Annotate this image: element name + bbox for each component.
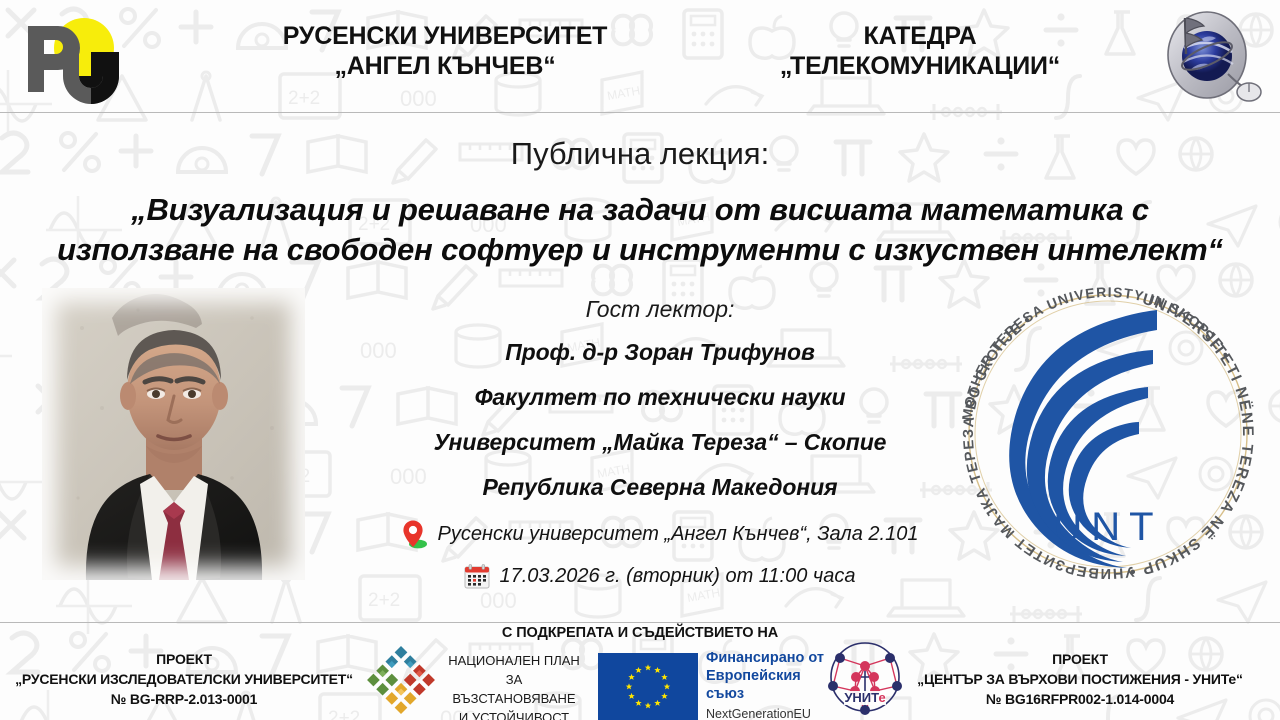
venue-row: Русенски университет „Ангел Кънчев“, Зал… bbox=[330, 519, 990, 549]
eu-funding-line1: Финансирано от bbox=[706, 650, 832, 668]
national-plan-line2: ЗА ВЪЗСТАНОВЯВАНЕ bbox=[444, 671, 584, 709]
national-plan-text: НАЦИОНАЛЕН ПЛАН ЗА ВЪЗСТАНОВЯВАНЕ И УСТО… bbox=[444, 652, 584, 720]
speaker-country: Република Северна Македония bbox=[330, 474, 990, 501]
speaker-faculty: Факултет по технически науки bbox=[330, 384, 990, 411]
eu-flag-icon bbox=[598, 653, 698, 720]
project-right-number: № BG16RFPR002-1.014-0004 bbox=[884, 690, 1276, 710]
speaker-university: Университет „Майка Тереза“ – Скопие bbox=[330, 429, 990, 456]
university-title-line1: РУСЕНСКИ УНИВЕРСИТЕТ bbox=[283, 22, 608, 50]
unite-network-icon: УНИТе bbox=[822, 636, 908, 718]
project-right-label: ПРОЕКТ bbox=[884, 650, 1276, 670]
date-row: 17.03.2026 г. (вторник) от 11:00 часа bbox=[330, 563, 990, 589]
unite-label: УНИТе bbox=[844, 690, 885, 705]
national-plan-line3: И УСТОЙЧИВОСТ bbox=[444, 709, 584, 720]
poster-header: РУСЕНСКИ УНИВЕРСИТЕТ „АНГЕЛ КЪНЧЕВ“ КАТЕ… bbox=[0, 0, 1280, 113]
speaker-photo bbox=[42, 288, 305, 580]
lecture-kicker: Публична лекция: bbox=[0, 136, 1280, 172]
ru-logo-icon bbox=[16, 12, 136, 104]
lecture-title-line2: използване на свободен софтуер и инструм… bbox=[24, 230, 1256, 270]
project-left-name: „РУСЕНСКИ ИЗСЛЕДОВАТЕЛСКИ УНИВЕРСИТЕТ“ bbox=[6, 670, 362, 690]
project-left-number: № BG-RRP-2.013-0001 bbox=[6, 690, 362, 710]
department-title-line1: КАТЕДРА bbox=[864, 22, 977, 50]
eu-funding-line3: NextGenerationEU bbox=[706, 707, 832, 720]
university-title-line2: „АНГЕЛ КЪНЧЕВ“ bbox=[145, 52, 745, 82]
department-title: КАТЕДРА „ТЕЛЕКОМУНИКАЦИИ“ bbox=[690, 22, 1150, 81]
lecture-title-line1: „Визуализация и решаване на задачи от ви… bbox=[24, 190, 1256, 230]
project-right-name: „ЦЕНТЪР ЗА ВЪРХОВИ ПОСТИЖЕНИЯ - УНИТе“ bbox=[884, 670, 1276, 690]
telecommunications-globe-icon bbox=[1150, 10, 1268, 106]
speaker-role-label: Гост лектор: bbox=[330, 296, 990, 323]
unt-abbr: UNT bbox=[1053, 505, 1162, 549]
project-left: ПРОЕКТ „РУСЕНСКИ ИЗСЛЕДОВАТЕЛСКИ УНИВЕРС… bbox=[6, 650, 362, 710]
department-title-line2: „ТЕЛЕКОМУНИКАЦИИ“ bbox=[690, 52, 1150, 82]
unt-ring-text-en: MOTHER TERESA UNIVERISTY IN SKOPJE • bbox=[959, 284, 1235, 422]
location-pin-icon bbox=[402, 519, 429, 549]
calendar-icon bbox=[464, 563, 490, 589]
header-divider bbox=[0, 112, 1280, 113]
national-plan-diamond-icon bbox=[364, 642, 438, 718]
eu-funding-line2: Европейския съюз bbox=[706, 668, 832, 704]
poster-canvas: 2+2 000 MATH bbox=[0, 0, 1280, 720]
footer-divider bbox=[0, 622, 1280, 623]
university-title: РУСЕНСКИ УНИВЕРСИТЕТ „АНГЕЛ КЪНЧЕВ“ bbox=[145, 22, 745, 81]
speaker-details: Гост лектор: Проф. д-р Зоран Трифунов Фа… bbox=[330, 296, 990, 589]
unt-university-logo: UNIVERSITETI NËNE TEREZA NË SHKUP • УНИВ… bbox=[952, 278, 1264, 590]
eu-funding-text: Финансирано от Европейския съюз NextGene… bbox=[706, 650, 832, 720]
date-text: 17.03.2026 г. (вторник) от 11:00 часа bbox=[499, 565, 855, 588]
project-right: ПРОЕКТ „ЦЕНТЪР ЗА ВЪРХОВИ ПОСТИЖЕНИЯ - У… bbox=[884, 650, 1276, 710]
speaker-name: Проф. д-р Зоран Трифунов bbox=[330, 339, 990, 366]
svg-text:MOTHER TERESA UNIVERISTY IN SK: MOTHER TERESA UNIVERISTY IN SKOPJE • bbox=[959, 284, 1235, 422]
national-plan-line1: НАЦИОНАЛЕН ПЛАН bbox=[444, 652, 584, 671]
project-left-label: ПРОЕКТ bbox=[6, 650, 362, 670]
speaker-portrait-image bbox=[42, 288, 305, 580]
lecture-title: „Визуализация и решаване на задачи от ви… bbox=[24, 190, 1256, 271]
venue-text: Русенски университет „Ангел Кънчев“, Зал… bbox=[438, 523, 919, 546]
